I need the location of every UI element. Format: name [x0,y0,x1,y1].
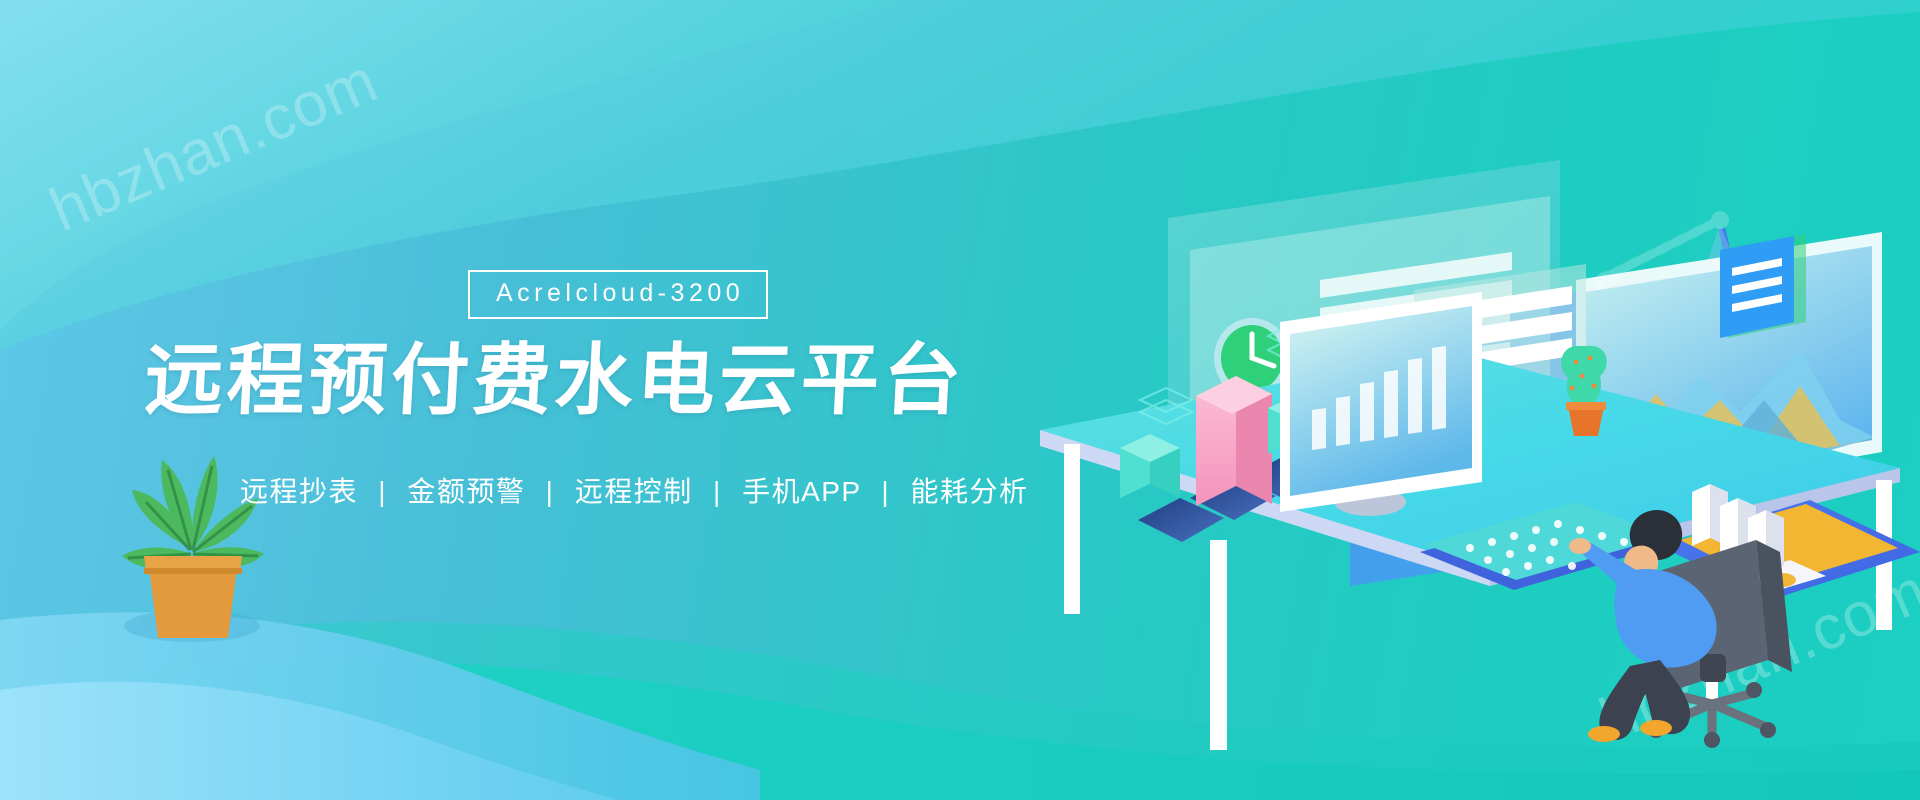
potted-plant [92,430,292,660]
feature-item-2: 远程控制 [575,476,693,507]
hero-banner: hbzhan.com hbzhan.com [0,0,1920,800]
feature-separator-3: | [870,476,901,507]
feature-item-1: 金额预警 [407,476,525,507]
feature-separator-1: | [535,476,566,507]
monitor [1280,292,1482,516]
page-title: 远程预付费水电云平台 [143,340,967,422]
feature-item-0: 远程抄表 [240,476,358,507]
product-badge: Acrelcloud-3200 [468,270,768,319]
document-icon [1720,234,1806,338]
feature-list: 远程抄表 | 金额预警 | 远程控制 | 手机APP | 能耗分析 [240,478,1028,506]
feature-separator-0: | [367,476,398,507]
feature-item-4: 能耗分析 [910,476,1028,507]
feature-item-3: 手机APP [742,476,861,507]
isometric-office-illustration [1020,100,1920,750]
feature-separator-2: | [702,476,733,507]
